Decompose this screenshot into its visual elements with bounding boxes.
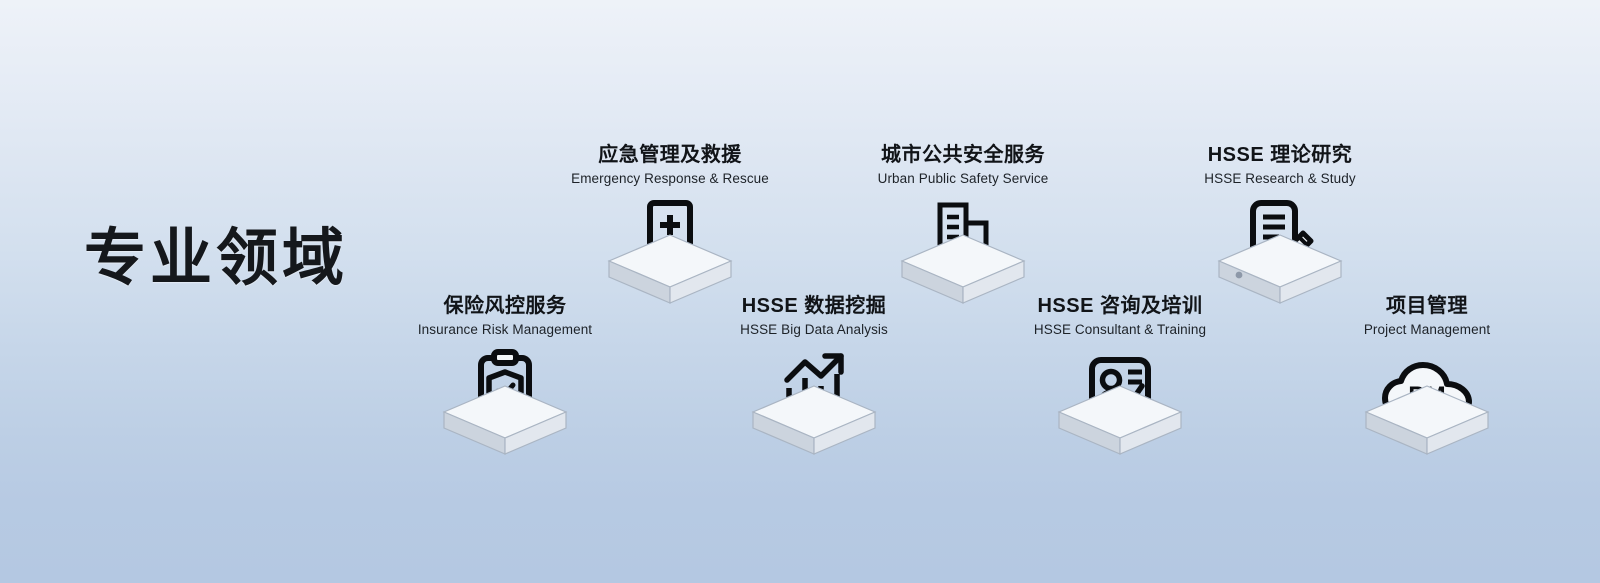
service-label-block: 应急管理及救援 Emergency Response & Rescue [535,144,805,187]
service-card-project[interactable]: 项目管理 Project Management PM [1292,295,1562,456]
service-card-consultant[interactable]: HSSE 咨询及培训 HSSE Consultant & Training [985,295,1255,456]
service-icon-wrap [1035,348,1205,456]
pedestal-3d [900,233,1026,305]
service-card-bigdata[interactable]: HSSE 数据挖掘 HSSE Big Data Analysis [679,295,949,456]
pedestal-3d [1217,233,1343,305]
service-title-en: Insurance Risk Management [370,322,640,338]
slide-canvas: 专业领域 应急管理及救援 Emergency Response & Rescue [0,0,1600,583]
service-icon-wrap [878,197,1048,305]
service-label-block: HSSE 理论研究 HSSE Research & Study [1145,144,1415,187]
service-card-insurance[interactable]: 保险风控服务 Insurance Risk Management [370,295,640,456]
service-icon-wrap [420,348,590,456]
service-card-research[interactable]: HSSE 理论研究 HSSE Research & Study [1145,144,1415,305]
service-title-cn: HSSE 理论研究 [1145,144,1415,167]
service-card-emergency[interactable]: 应急管理及救援 Emergency Response & Rescue [535,144,805,305]
service-title-en: Project Management [1292,322,1562,338]
service-icon-wrap: PM [1342,348,1512,456]
service-title-cn: 应急管理及救援 [535,144,805,167]
service-icon-wrap [1195,197,1365,305]
service-label-block: 城市公共安全服务 Urban Public Safety Service [828,144,1098,187]
service-title-en: HSSE Big Data Analysis [679,322,949,338]
service-label-block: 保险风控服务 Insurance Risk Management [370,295,640,338]
pedestal-3d [1364,384,1490,456]
pedestal-3d [442,384,568,456]
service-title-en: Emergency Response & Rescue [535,171,805,187]
service-title-en: Urban Public Safety Service [828,171,1098,187]
service-title-en: HSSE Consultant & Training [985,322,1255,338]
page-title: 专业领域 [84,228,348,290]
pedestal-3d [607,233,733,305]
pedestal-3d [751,384,877,456]
service-card-urban[interactable]: 城市公共安全服务 Urban Public Safety Service [828,144,1098,305]
service-title-cn: 城市公共安全服务 [828,144,1098,167]
service-title-en: HSSE Research & Study [1145,171,1415,187]
pedestal-3d [1057,384,1183,456]
service-icon-wrap [729,348,899,456]
service-icon-wrap [585,197,755,305]
service-title-cn: 保险风控服务 [370,295,640,318]
